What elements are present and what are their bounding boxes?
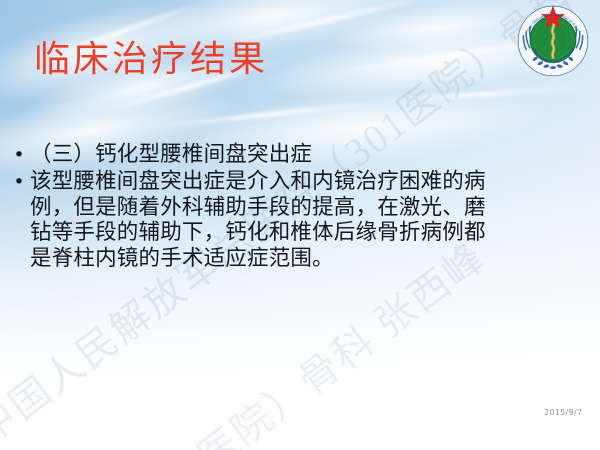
bullet-line: （三）钙化型腰椎间盘突出症 xyxy=(30,142,592,168)
slide-body: • （三）钙化型腰椎间盘突出症 • 该型腰椎间盘突出症是介入和内镜治疗困难的病 … xyxy=(8,142,592,272)
bullet-line: 钻等手段的辅助下，钙化和椎体后缘骨折病例都 xyxy=(30,220,592,246)
bullet-line: 该型腰椎间盘突出症是介入和内镜治疗困难的病 xyxy=(30,169,592,195)
page-title: 临床治疗结果 xyxy=(34,40,268,80)
cloud-streak xyxy=(140,98,399,130)
cloud-streak xyxy=(370,84,590,104)
bullet-marker-icon: • xyxy=(8,142,30,168)
bullet-text-block: （三）钙化型腰椎间盘突出症 xyxy=(30,142,592,168)
bullet-text-block: 该型腰椎间盘突出症是介入和内镜治疗困难的病 例，但是随着外科辅助手段的提高，在激… xyxy=(30,169,592,271)
slide-canvas: 中国人民解放军总医院（301医院）骨科 医院）骨科 张西峰 临床治疗结果 xyxy=(0,0,600,450)
date-stamp: 2015/9/7 xyxy=(544,408,582,417)
cloud-shape xyxy=(328,0,541,61)
bullet-item: • 该型腰椎间盘突出症是介入和内镜治疗困难的病 例，但是随着外科辅助手段的提高，… xyxy=(8,169,592,271)
bullet-marker-icon: • xyxy=(8,169,30,195)
hospital-logo-icon: The Orthopaedic Hospital of P.L.A 中国人民解放… xyxy=(516,4,590,78)
bullet-line: 是脊柱内镜的手术适应症范围。 xyxy=(30,246,592,272)
bullet-item: • （三）钙化型腰椎间盘突出症 xyxy=(8,142,592,168)
bullet-line: 例，但是随着外科辅助手段的提高，在激光、磨 xyxy=(30,195,592,221)
